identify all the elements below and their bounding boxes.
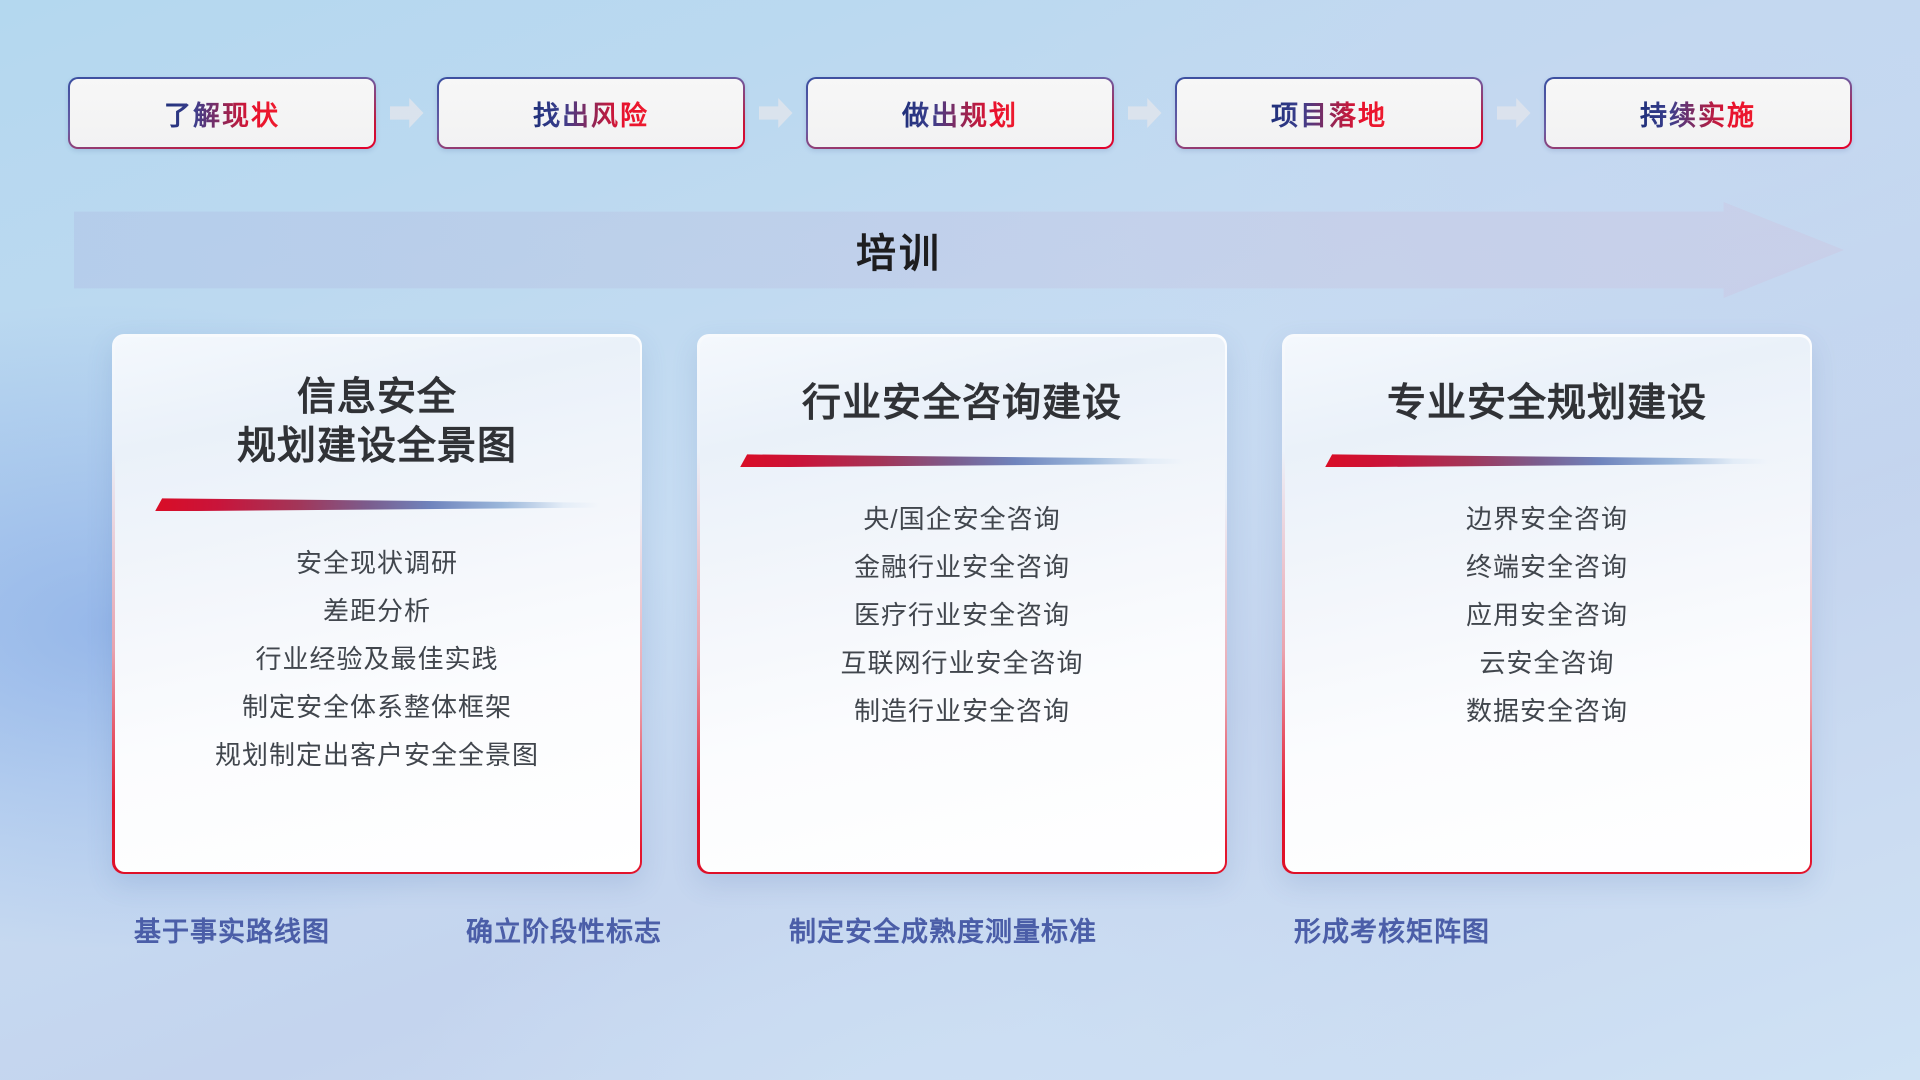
card-3-list-item-3: 应用安全咨询 (1285, 591, 1810, 639)
card-2-list-item-2: 金融行业安全咨询 (700, 543, 1225, 591)
slide-canvas: 了解现状 找出风险 做出规划 项目落地 持续实施 (0, 0, 1920, 1080)
card-3-inner: 专业安全规划建设 边界安全咨询 终端安全咨询 应用安全咨询 云安全咨询 数据安全… (1285, 337, 1810, 872)
banner-title: 培训 (74, 202, 1844, 298)
card-1-title: 信息安全 规划建设全景图 (217, 373, 537, 473)
footer-label-2: 确立阶段性标志 (466, 910, 662, 949)
card-2-divider-wedge (740, 454, 1184, 467)
card-1-divider (155, 498, 599, 511)
step-label-1: 了解现状 (164, 94, 280, 133)
card-3-divider-wedge (1325, 454, 1769, 467)
step-arrow-icon-4 (1497, 98, 1531, 128)
step-label-2: 找出风险 (533, 94, 649, 133)
card-2-inner: 行业安全咨询建设 央/国企安全咨询 金融行业安全咨询 医疗行业安全咨询 互联网行… (700, 337, 1225, 872)
card-2-list-item-1: 央/国企安全咨询 (700, 495, 1225, 543)
card-2-list-item-5: 制造行业安全咨询 (700, 687, 1225, 735)
card-3-list-item-4: 云安全咨询 (1285, 639, 1810, 687)
card-2-list-item-4: 互联网行业安全咨询 (700, 639, 1225, 687)
step-button-4[interactable]: 项目落地 (1175, 77, 1483, 149)
card-3-list-item-2: 终端安全咨询 (1285, 543, 1810, 591)
footer-label-4: 形成考核矩阵图 (1294, 910, 1490, 949)
footer-label-1: 基于事实路线图 (134, 910, 330, 949)
card-1-list-item-5: 规划制定出客户安全全景图 (115, 731, 640, 779)
step-label-3: 做出规划 (902, 94, 1018, 133)
card-3-list: 边界安全咨询 终端安全咨询 应用安全咨询 云安全咨询 数据安全咨询 (1285, 495, 1810, 735)
step-arrow-icon-3 (1128, 98, 1162, 128)
step-button-1-inner: 了解现状 (70, 79, 374, 147)
step-button-2-inner: 找出风险 (439, 79, 743, 147)
footer-label-row: 基于事实路线图 确立阶段性标志 制定安全成熟度测量标准 形成考核矩阵图 (0, 910, 1920, 966)
card-1-list-item-2: 差距分析 (115, 587, 640, 635)
card-2[interactable]: 行业安全咨询建设 央/国企安全咨询 金融行业安全咨询 医疗行业安全咨询 互联网行… (697, 334, 1227, 874)
card-1-divider-wedge (155, 498, 599, 511)
step-button-5[interactable]: 持续实施 (1544, 77, 1852, 149)
step-button-4-inner: 项目落地 (1177, 79, 1481, 147)
step-button-2[interactable]: 找出风险 (437, 77, 745, 149)
card-1-title-line-1: 信息安全 (237, 373, 517, 423)
card-2-list: 央/国企安全咨询 金融行业安全咨询 医疗行业安全咨询 互联网行业安全咨询 制造行… (700, 495, 1225, 735)
training-banner: 培训 (74, 202, 1844, 298)
card-1-list: 安全现状调研 差距分析 行业经验及最佳实践 制定安全体系整体框架 规划制定出客户… (115, 539, 640, 779)
step-button-3[interactable]: 做出规划 (806, 77, 1114, 149)
step-arrow-icon-2 (759, 98, 793, 128)
card-1-list-item-4: 制定安全体系整体框架 (115, 683, 640, 731)
card-1-list-item-1: 安全现状调研 (115, 539, 640, 587)
card-3-divider (1325, 454, 1769, 467)
step-label-4: 项目落地 (1271, 94, 1387, 133)
card-1-inner: 信息安全 规划建设全景图 安全现状调研 差距分析 行业经验及最佳实践 制定安全体… (115, 337, 640, 872)
card-2-list-item-3: 医疗行业安全咨询 (700, 591, 1225, 639)
card-2-title: 行业安全咨询建设 (782, 379, 1142, 429)
card-3-list-item-5: 数据安全咨询 (1285, 687, 1810, 735)
card-3-list-item-1: 边界安全咨询 (1285, 495, 1810, 543)
card-3-title-line-1: 专业安全规划建设 (1387, 379, 1707, 429)
process-step-row: 了解现状 找出风险 做出规划 项目落地 持续实施 (68, 76, 1852, 150)
card-row: 信息安全 规划建设全景图 安全现状调研 差距分析 行业经验及最佳实践 制定安全体… (112, 334, 1812, 874)
card-1-title-line-2: 规划建设全景图 (237, 422, 517, 472)
card-3-title: 专业安全规划建设 (1367, 379, 1727, 429)
step-button-3-inner: 做出规划 (808, 79, 1112, 147)
footer-label-3: 制定安全成熟度测量标准 (789, 910, 1097, 949)
step-button-5-inner: 持续实施 (1546, 79, 1850, 147)
card-2-title-line-1: 行业安全咨询建设 (802, 379, 1122, 429)
step-arrow-icon-1 (390, 98, 424, 128)
card-2-divider (740, 454, 1184, 467)
card-3[interactable]: 专业安全规划建设 边界安全咨询 终端安全咨询 应用安全咨询 云安全咨询 数据安全… (1282, 334, 1812, 874)
card-1[interactable]: 信息安全 规划建设全景图 安全现状调研 差距分析 行业经验及最佳实践 制定安全体… (112, 334, 642, 874)
step-label-5: 持续实施 (1640, 94, 1756, 133)
step-button-1[interactable]: 了解现状 (68, 77, 376, 149)
card-1-list-item-3: 行业经验及最佳实践 (115, 635, 640, 683)
